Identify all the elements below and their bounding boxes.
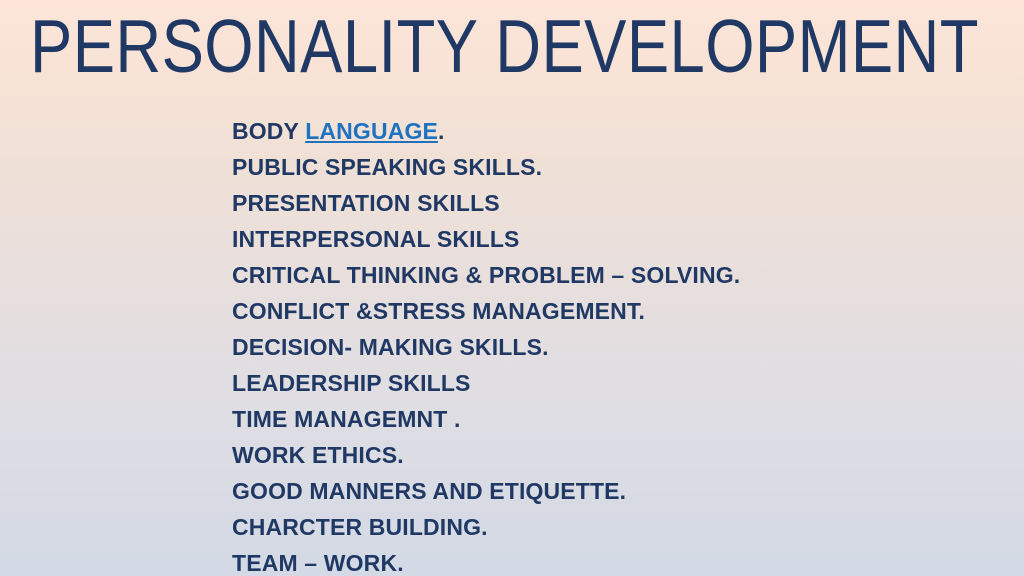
language-hyperlink[interactable]: LANGUAGE — [305, 118, 438, 144]
list-item: CONFLICT &STRESS MANAGEMENT. — [232, 293, 992, 329]
list-item: BODY LANGUAGE. — [232, 113, 992, 149]
list-item-text-suffix: . — [438, 118, 445, 144]
list-item: CHARCTER BUILDING. — [232, 509, 992, 545]
list-item: PUBLIC SPEAKING SKILLS. — [232, 149, 992, 185]
list-item: TEAM – WORK. — [232, 545, 992, 576]
list-item: PRESENTATION SKILLS — [232, 185, 992, 221]
list-item: TIME MANAGEMNT . — [232, 401, 992, 437]
page-title: PERSONALITY DEVELOPMENT — [30, 4, 845, 88]
list-item-text-prefix: BODY — [232, 118, 305, 144]
list-item: WORK ETHICS. — [232, 437, 992, 473]
topic-list: BODY LANGUAGE. PUBLIC SPEAKING SKILLS. P… — [232, 113, 992, 576]
list-item: LEADERSHIP SKILLS — [232, 365, 992, 401]
list-item: GOOD MANNERS AND ETIQUETTE. — [232, 473, 992, 509]
list-item: INTERPERSONAL SKILLS — [232, 221, 992, 257]
list-item: CRITICAL THINKING & PROBLEM – SOLVING. — [232, 257, 992, 293]
list-item: DECISION- MAKING SKILLS. — [232, 329, 992, 365]
slide-canvas: PERSONALITY DEVELOPMENT BODY LANGUAGE. P… — [0, 0, 1024, 576]
